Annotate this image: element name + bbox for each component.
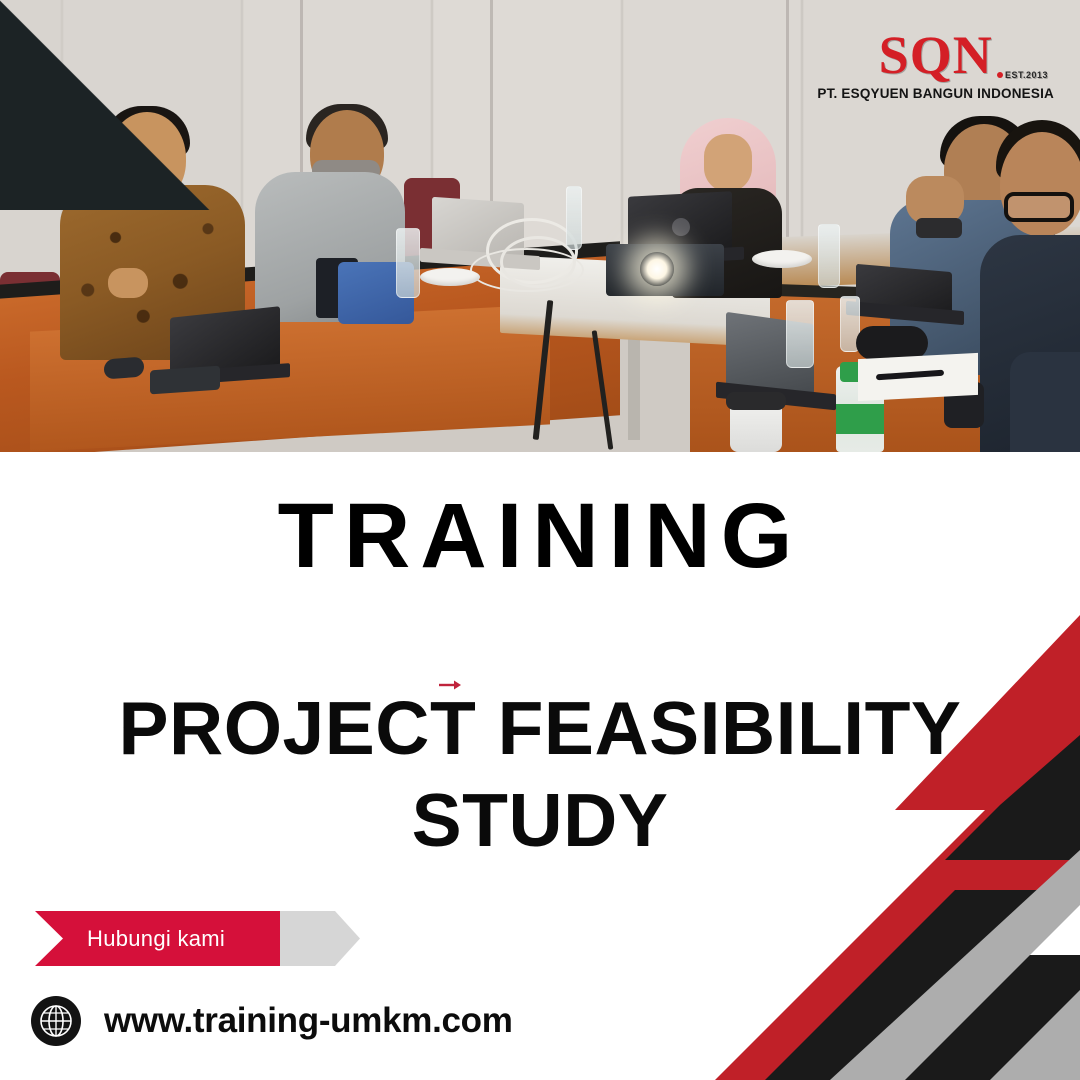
- wristwatch: [916, 218, 962, 238]
- website-url: www.training-umkm.com: [104, 1001, 513, 1041]
- eyeglasses: [1004, 192, 1074, 222]
- water-bottle: [566, 186, 582, 250]
- water-bottle: [396, 228, 420, 298]
- globe-icon: [30, 995, 82, 1047]
- logo-wordmark: SQN EST.2013: [817, 28, 1054, 82]
- bottle-label: [836, 404, 884, 434]
- contact-banner: Hubungi kami: [35, 911, 360, 966]
- dark-triangle-decoration: [0, 0, 210, 210]
- logo-mark-text: SQN: [879, 25, 993, 85]
- poster-canvas: SQN EST.2013 PT. ESQYUEN BANGUN INDONESI…: [0, 0, 1080, 1080]
- person-sleeve: [1010, 352, 1080, 452]
- projector-lens-glow: [640, 252, 674, 286]
- plate: [420, 268, 480, 286]
- water-bottle: [818, 224, 840, 288]
- table-leg: [628, 330, 640, 440]
- logo-dot-icon: [997, 72, 1003, 78]
- person-face: [704, 134, 752, 192]
- laptop-logo: [672, 218, 690, 236]
- chevron-decoration: [660, 560, 1080, 1080]
- cup-lid: [726, 392, 786, 410]
- logo-company-name: PT. ESQYUEN BANGUN INDONESIA: [817, 87, 1054, 101]
- plate: [752, 250, 812, 268]
- coiled-cable: [470, 248, 584, 292]
- person-hands: [906, 176, 964, 224]
- contact-banner-label: Hubungi kami: [87, 911, 225, 966]
- logo-established: EST.2013: [997, 71, 1048, 80]
- headphones: [856, 326, 928, 360]
- water-bottle: [786, 300, 814, 368]
- smartphone: [150, 366, 220, 395]
- logo-est-text: EST.2013: [1005, 70, 1048, 80]
- company-logo: SQN EST.2013 PT. ESQYUEN BANGUN INDONESI…: [817, 28, 1054, 101]
- person-hand: [108, 268, 148, 298]
- website-row: www.training-umkm.com: [30, 995, 513, 1047]
- computer-mouse: [104, 357, 144, 380]
